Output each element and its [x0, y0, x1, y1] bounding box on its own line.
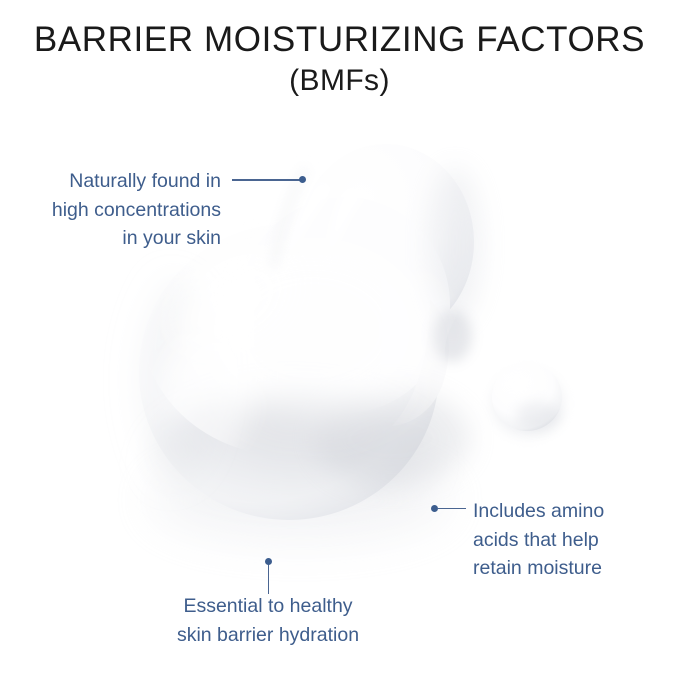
leader-line-left [232, 179, 300, 181]
annotation-includes-amino-acids: Includes amino acids that help retain mo… [473, 497, 673, 583]
annotation-naturally-found: Naturally found in high concentrations i… [0, 167, 221, 253]
title-line-secondary: (BMFs) [0, 62, 679, 100]
leader-dot-left [299, 176, 306, 183]
page-title: BARRIER MOISTURIZING FACTORS (BMFs) [0, 18, 679, 100]
infographic-canvas: BARRIER MOISTURIZING FACTORS (BMFs) [0, 0, 679, 679]
small-cream-droplet [492, 363, 564, 437]
leader-dot-bottom [265, 558, 272, 565]
leader-dot-right [431, 505, 438, 512]
leader-line-bottom [268, 564, 270, 594]
annotation-essential-hydration: Essential to healthy skin barrier hydrat… [118, 592, 418, 649]
leader-line-right [438, 508, 466, 510]
title-line-primary: BARRIER MOISTURIZING FACTORS [0, 18, 679, 62]
